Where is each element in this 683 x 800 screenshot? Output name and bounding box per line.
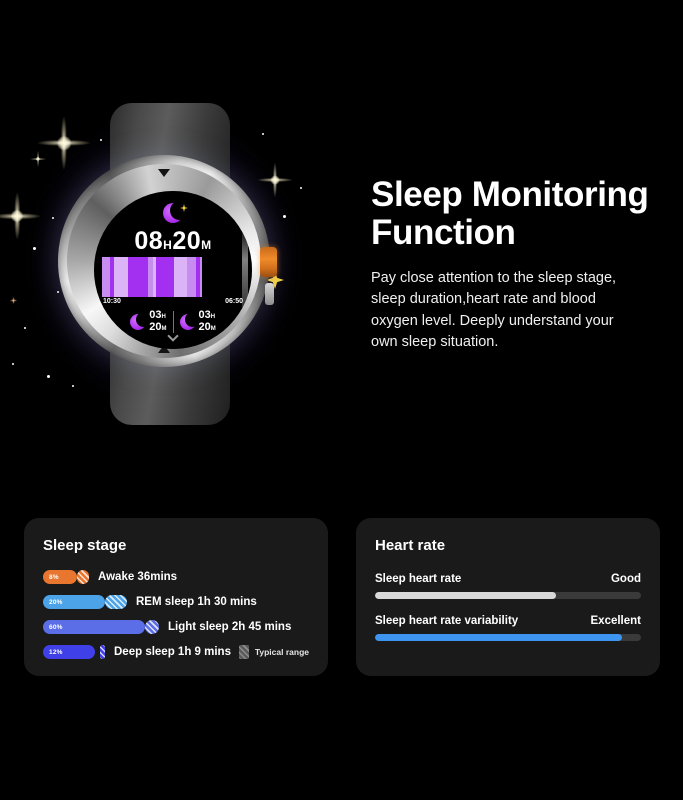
heart-rate-metric-head: Sleep heart rate variabilityExcellent [375,615,641,627]
typical-range-hatch [105,595,127,609]
hypnogram-band [187,257,196,297]
star-dot-icon [33,247,36,250]
sleep-stage-bar-wrap: 60% [43,620,159,634]
star-glyph-icon [8,295,19,306]
sleep-end-time: 06:50 [225,298,243,305]
watch-illustration: 08H20M 10:30 06:50 03H 20M [0,95,350,425]
watch-bezel: 08H20M 10:30 06:50 03H 20M [67,164,261,358]
sleep-stage-row: 8%Awake 36mins [43,570,309,584]
star-dot-icon [12,363,14,365]
sleep-hypnogram-chart [102,257,244,297]
typical-range-hatch [77,570,89,584]
stat2-hours-unit: H [211,314,215,320]
crown-button[interactable] [260,247,277,277]
sleep-stage-percent: 8% [43,574,59,581]
legend-swatch-icon [239,645,249,659]
watch-screen[interactable]: 08H20M 10:30 06:50 03H 20M [94,191,252,349]
sparkle-star-icon [0,193,40,239]
heart-rate-metric: Sleep heart rateGood [375,573,641,599]
typical-range-legend: Typical range [239,645,309,659]
sleep-stage-card: Sleep stage 8%Awake 36mins20%REM sleep 1… [24,518,328,676]
hero-section: 08H20M 10:30 06:50 03H 20M [0,0,683,470]
hypnogram-band [200,257,202,297]
hours-unit: H [163,238,172,252]
watch-stat-1-value: 03H 20M [149,310,166,333]
heart-rate-card: Heart rate Sleep heart rateGoodSleep hea… [356,518,660,676]
sleep-stage-percent: 12% [43,649,63,656]
sleep-stage-label: Deep sleep 1h 9 mins [114,646,231,658]
stat2-minutes: 20 [199,321,211,333]
star-dot-icon [72,385,74,387]
sleep-stage-bar: 60% [43,620,145,634]
star-dot-icon [283,215,286,218]
star-dot-icon [262,133,264,135]
stat1-minutes: 20 [149,321,161,333]
sleep-stage-bar-wrap: 8% [43,570,89,584]
star-dot-icon [57,291,59,293]
hero-description: Pay close attention to the sleep stage, … [371,268,636,354]
total-minutes: 20 [172,227,201,255]
sleep-stage-bar-wrap: 12% [43,645,105,659]
stat2-minutes-unit: M [211,326,216,332]
heart-rate-fill [375,634,622,641]
side-button[interactable] [265,283,274,305]
sleep-stage-label: Light sleep 2h 45 mins [168,621,291,633]
sparkle-star-icon [258,163,292,197]
heart-rate-metrics: Sleep heart rateGoodSleep heart rate var… [375,573,641,641]
sleep-stage-bar-wrap: 20% [43,595,127,609]
headline-line-1: Sleep Monitoring [371,176,683,214]
sparkle-star-icon [30,151,46,167]
sleep-stage-label: REM sleep 1h 30 mins [136,596,257,608]
star-dot-icon [52,217,54,219]
sleep-stage-title: Sleep stage [43,537,309,554]
heart-rate-metric-value: Good [611,573,641,585]
heart-rate-metric: Sleep heart rate variabilityExcellent [375,615,641,641]
sleep-total-duration: 08H20M [94,227,252,256]
heart-rate-track [375,592,641,599]
watch-stat-2-value: 03H 20M [199,310,216,333]
sleep-stage-percent: 60% [43,624,63,631]
star-dot-icon [24,327,26,329]
stat1-minutes-unit: M [162,326,167,332]
heart-rate-fill [375,592,556,599]
headline-line-2: Function [371,214,683,252]
heart-rate-metric-name: Sleep heart rate variability [375,615,518,627]
bezel-marker-top [158,169,170,177]
sleep-stage-bar: 12% [43,645,95,659]
hypnogram-band [102,257,110,297]
sleep-stage-row: 20%REM sleep 1h 30 mins [43,595,309,609]
moon-icon [130,314,146,330]
watch-stat-2: 03H 20M [180,310,216,333]
stat2-hours: 03 [199,309,211,321]
metrics-cards: Sleep stage 8%Awake 36mins20%REM sleep 1… [24,518,660,676]
hypnogram-band [156,257,174,297]
sleep-start-time: 10:30 [103,298,121,305]
moon-icon [163,203,183,223]
stat1-hours-unit: H [162,314,166,320]
total-hours: 08 [134,227,163,255]
heart-rate-title: Heart rate [375,537,641,554]
watch-stat-1: 03H 20M [130,310,166,333]
minutes-unit: M [201,238,212,252]
heart-rate-metric-head: Sleep heart rateGood [375,573,641,585]
moon-icon [180,314,196,330]
heart-rate-metric-name: Sleep heart rate [375,573,461,585]
star-dot-icon [300,187,302,189]
hero-copy: Sleep Monitoring Function Pay close atte… [371,176,683,353]
typical-range-hatch [100,645,105,659]
hypnogram-band [174,257,187,297]
page-title: Sleep Monitoring Function [371,176,683,252]
typical-range-hatch [145,620,159,634]
hypnogram-band [114,257,128,297]
sleep-time-range: 10:30 06:50 [103,298,243,305]
sleep-stage-row: 60%Light sleep 2h 45 mins [43,620,309,634]
sleep-monitoring-page: 08H20M 10:30 06:50 03H 20M [0,0,683,800]
heart-rate-metric-value: Excellent [591,615,642,627]
hypnogram-band [128,257,148,297]
sleep-stage-percent: 20% [43,599,63,606]
legend-label: Typical range [255,647,309,657]
sleep-stage-bar: 8% [43,570,77,584]
star-dot-icon [47,375,50,378]
sleep-stage-label: Awake 36mins [98,571,177,583]
watch-case: 08H20M 10:30 06:50 03H 20M [58,155,270,367]
heart-rate-track [375,634,641,641]
sleep-stage-bar: 20% [43,595,105,609]
stat1-hours: 03 [149,309,161,321]
star-dot-icon [100,139,102,141]
